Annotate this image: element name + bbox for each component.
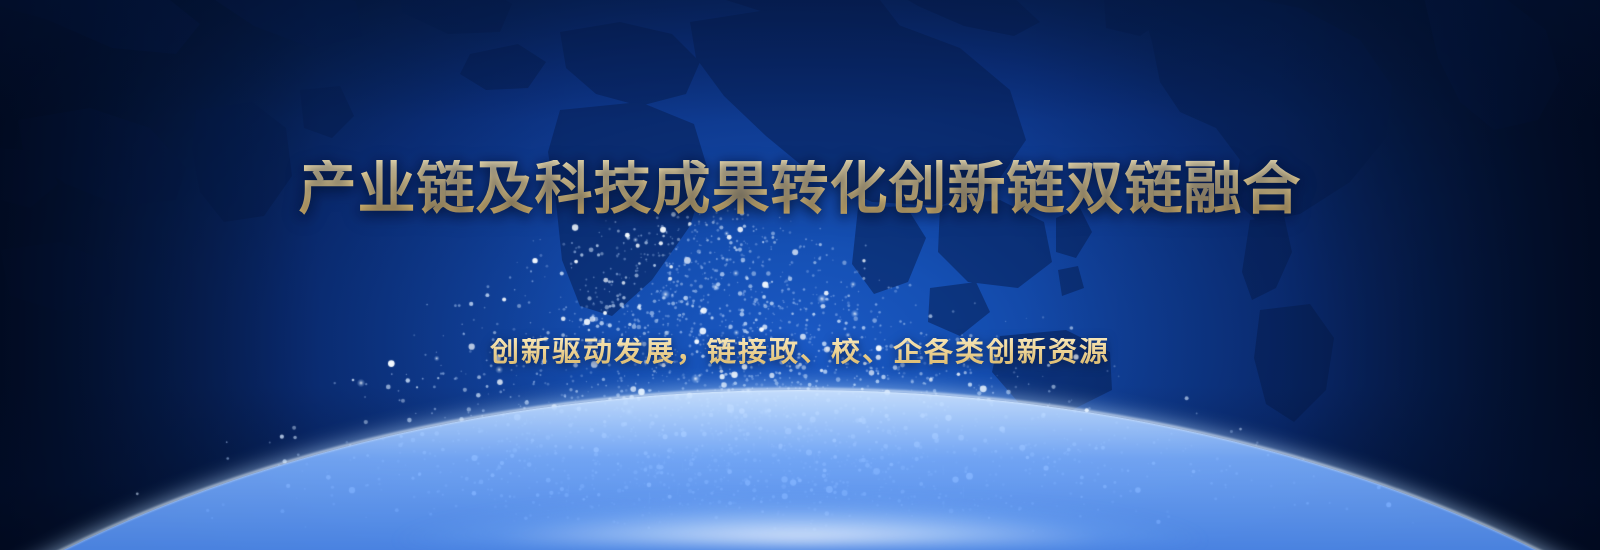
banner-subtitle: 创新驱动发展，链接政、校、企各类创新资源 bbox=[490, 338, 1110, 367]
banner-content: 产业链及科技成果转化创新链双链融合 创新驱动发展，链接政、校、企各类创新资源 bbox=[0, 0, 1600, 550]
hero-banner: 产业链及科技成果转化创新链双链融合 创新驱动发展，链接政、校、企各类创新资源 bbox=[0, 0, 1600, 550]
banner-title: 产业链及科技成果转化创新链双链融合 bbox=[298, 160, 1301, 218]
